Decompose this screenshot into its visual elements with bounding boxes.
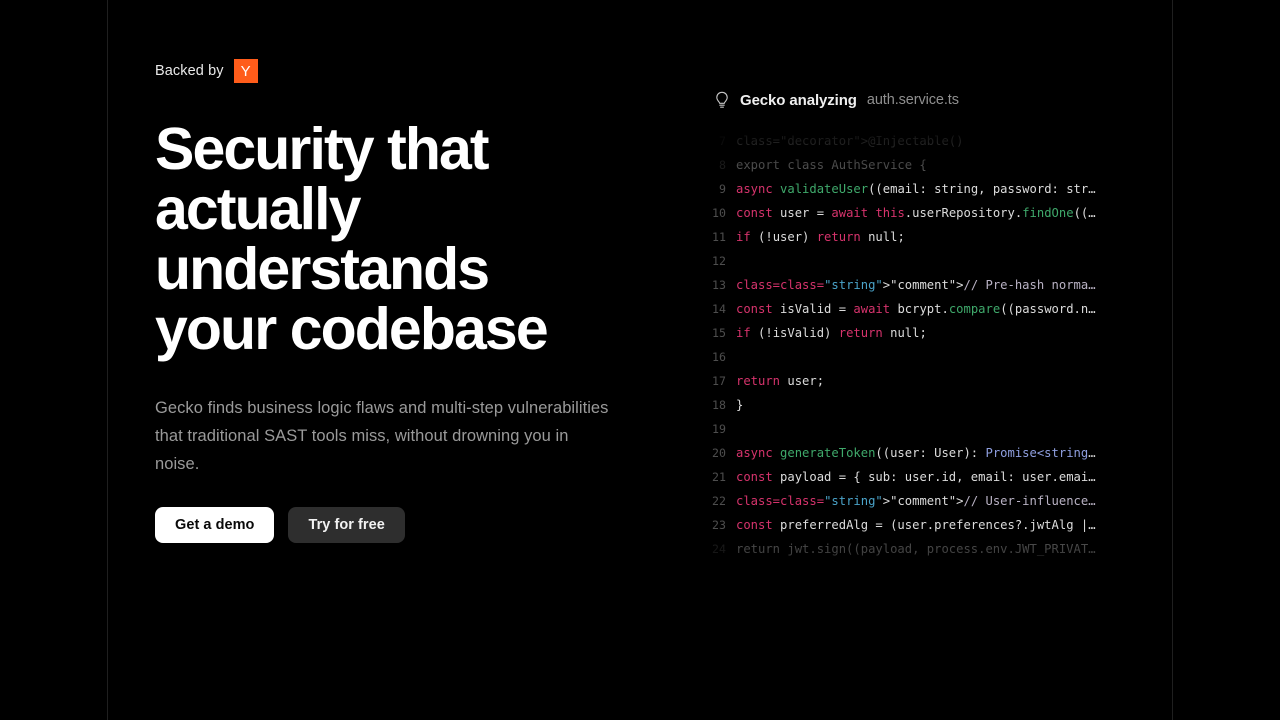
hero-page: Backed by Y Security that actually under… (0, 0, 1280, 720)
code-line-content: const user = await this.userRepository.f… (736, 206, 1110, 220)
code-token: ((user: User): (875, 446, 985, 460)
code-line: 12 (700, 249, 1110, 273)
code-line: 9 async validateUser((email: string, pas… (700, 177, 1110, 201)
page-title: Security that actually understands your … (155, 119, 635, 359)
code-token: >"comment"> (883, 494, 964, 508)
code-token: Promise<string> (985, 446, 1095, 460)
code-line: 10 const user = await this.userRepositor… (700, 201, 1110, 225)
container-rail-left (107, 0, 108, 720)
code-line-number: 9 (700, 182, 736, 196)
code-line: 23 const preferredAlg = (user.preference… (700, 513, 1110, 537)
backed-by-label: Backed by (155, 63, 224, 79)
code-line: 19 (700, 417, 1110, 441)
hero-left-column: Backed by Y Security that actually under… (155, 56, 675, 543)
container-rail-right (1172, 0, 1173, 720)
code-token: preferredAlg = (user.preferences?.jwtAlg… (780, 518, 1096, 532)
cta-button-row: Get a demo Try for free (155, 507, 675, 543)
code-line: 14 const isValid = await bcrypt.compare(… (700, 297, 1110, 321)
code-line-content: async generateToken((user: User): Promis… (736, 446, 1110, 460)
code-line-content: const payload = { sub: user.id, email: u… (736, 470, 1110, 484)
code-line-number: 23 (700, 518, 736, 532)
code-token: return (736, 374, 787, 388)
code-line-content: return jwt.sign((payload, process.env.JW… (736, 542, 1110, 556)
code-token: const (736, 518, 780, 532)
lightbulb-icon (714, 91, 730, 109)
code-line-number: 16 (700, 350, 736, 364)
code-line: 20 async generateToken((user: User): Pro… (700, 441, 1110, 465)
code-token: bcrypt. (897, 302, 948, 316)
code-token: user; (787, 374, 824, 388)
code-line-number: 12 (700, 254, 736, 268)
code-token: class=class= (736, 494, 824, 508)
code-token: "string" (824, 494, 883, 508)
code-line-number: 11 (700, 230, 736, 244)
analyzed-filename: auth.service.ts (867, 92, 959, 108)
analyzing-status-text: Gecko analyzing (740, 92, 857, 109)
code-token: isValid = (780, 302, 853, 316)
code-token: await (853, 302, 897, 316)
code-line: 15 if (!isValid) return null; (700, 321, 1110, 345)
code-line-number: 10 (700, 206, 736, 220)
code-line-number: 20 (700, 446, 736, 460)
code-token: } (736, 398, 743, 412)
code-token: null; (890, 326, 927, 340)
code-line: 21 const payload = { sub: user.id, email… (700, 465, 1110, 489)
code-line-content: export class AuthService { (736, 158, 1110, 172)
code-line: 17 return user; (700, 369, 1110, 393)
code-token: const (736, 470, 780, 484)
code-line: 24 return jwt.sign((payload, process.env… (700, 537, 1110, 559)
code-line-content: return user; (736, 374, 1110, 388)
code-token: return jwt.sign((payload, process.env.JW… (736, 542, 1096, 556)
code-line-number: 8 (700, 158, 736, 172)
code-lines-container[interactable]: 7class="decorator">@Injectable()8export … (700, 129, 1110, 559)
headline-line-4: your codebase (155, 296, 547, 362)
headline-line-3: understands (155, 236, 488, 302)
code-line-content: class="decorator">@Injectable() (736, 134, 1110, 148)
code-token: { (1096, 446, 1110, 460)
code-line-number: 22 (700, 494, 736, 508)
code-line-number: 13 (700, 278, 736, 292)
code-token: "string" (824, 278, 883, 292)
code-line: 11 if (!user) return null; (700, 225, 1110, 249)
code-line-content: if (!user) return null; (736, 230, 1110, 244)
code-token: >"comment"> (883, 278, 964, 292)
code-token: // Pre-hash norma… (963, 278, 1095, 292)
code-token: (!isValid) (758, 326, 839, 340)
code-token: findOne (1022, 206, 1073, 220)
backed-by-badge: Backed by Y (155, 56, 675, 86)
code-token: (!user) (758, 230, 817, 244)
code-token: export class AuthService { (736, 158, 927, 172)
code-token: payload = { sub: user.id, email: user.em… (780, 470, 1096, 484)
code-token: await (831, 206, 875, 220)
code-line-number: 18 (700, 398, 736, 412)
code-token: ((password.n… (1000, 302, 1095, 316)
try-for-free-button[interactable]: Try for free (288, 507, 404, 543)
headline-line-1: Security that (155, 116, 488, 182)
code-preview-panel: Gecko analyzing auth.service.ts 7class="… (700, 84, 1110, 564)
code-line: 22 class=class="string">"comment">// Use… (700, 489, 1110, 513)
code-token: this (875, 206, 904, 220)
code-token: const (736, 206, 780, 220)
hero-subheadline: Gecko finds business logic flaws and mul… (155, 394, 615, 478)
get-a-demo-button[interactable]: Get a demo (155, 507, 274, 543)
code-token: user = (780, 206, 831, 220)
headline-line-2: actually (155, 176, 360, 242)
code-token: return (817, 230, 868, 244)
code-token: if (736, 326, 758, 340)
code-token: async (736, 182, 780, 196)
code-token: ((email: string, password: string… (868, 182, 1110, 196)
code-line-content: class=class="string">"comment">// User-i… (736, 494, 1110, 508)
code-line-number: 14 (700, 302, 736, 316)
code-token: validateUser (780, 182, 868, 196)
code-token: class=class= (736, 278, 824, 292)
code-token: if (736, 230, 758, 244)
code-token: // User-influence… (963, 494, 1095, 508)
code-line: 7class="decorator">@Injectable() (700, 129, 1110, 153)
code-line: 8export class AuthService { (700, 153, 1110, 177)
code-line: 13 class=class="string">"comment">// Pre… (700, 273, 1110, 297)
code-token: class="decorator">@Injectable() (736, 134, 963, 148)
code-line-content: const isValid = await bcrypt.compare((pa… (736, 302, 1110, 316)
code-line-content: class=class="string">"comment">// Pre-ha… (736, 278, 1110, 292)
code-token: const (736, 302, 780, 316)
code-line-content: if (!isValid) return null; (736, 326, 1110, 340)
code-line: 16 (700, 345, 1110, 369)
ycombinator-logo: Y (234, 59, 258, 83)
code-line-number: 24 (700, 542, 736, 556)
code-line: 18 } (700, 393, 1110, 417)
code-token: return (839, 326, 890, 340)
code-line-content: } (736, 398, 1110, 412)
code-token: .userRepository. (905, 206, 1022, 220)
code-line-number: 19 (700, 422, 736, 436)
code-panel-header: Gecko analyzing auth.service.ts (700, 84, 1110, 116)
code-line-number: 17 (700, 374, 736, 388)
code-token: async (736, 446, 780, 460)
code-token: generateToken (780, 446, 875, 460)
code-line-number: 7 (700, 134, 736, 148)
code-token: null; (868, 230, 905, 244)
code-token: compare (949, 302, 1000, 316)
code-line-content: const preferredAlg = (user.preferences?.… (736, 518, 1110, 532)
code-line-number: 15 (700, 326, 736, 340)
code-token: ((… (1074, 206, 1096, 220)
code-line-number: 21 (700, 470, 736, 484)
code-line-content: async validateUser((email: string, passw… (736, 182, 1110, 196)
